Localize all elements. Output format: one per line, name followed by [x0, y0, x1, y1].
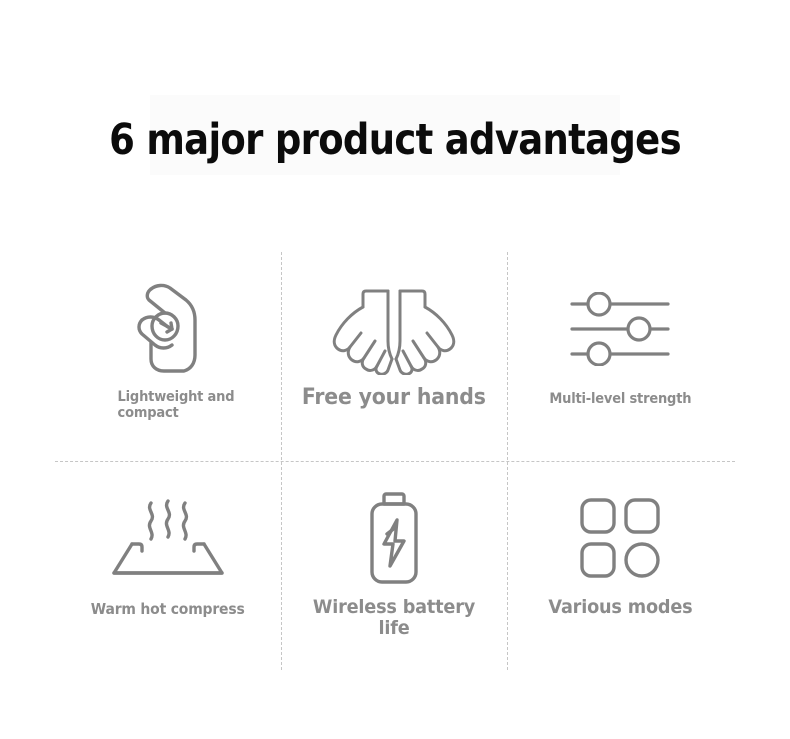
advantage-cell-free-your-hands: Free your hands [281, 252, 507, 461]
advantage-cell-various-modes: Various modes [507, 461, 733, 670]
page-title: 6 major product advantages [55, 117, 734, 164]
advantage-label: Multi-level strength [543, 392, 696, 408]
advantage-cell-warm-hot-compress: Warm hot compress [55, 461, 281, 670]
sliders-icon [568, 270, 672, 388]
advantages-page: 6 major product advantages [0, 0, 790, 739]
advantage-cell-lightweight-and-compact: Lightweight and compact [55, 252, 281, 461]
advantage-cell-multi-level-strength: Multi-level strength [507, 252, 733, 461]
advantage-label: Lightweight and compact [112, 390, 244, 421]
advantage-label: Warm hot compress [86, 601, 251, 618]
advantage-label: Wireless battery life [289, 597, 499, 640]
battery-bolt-icon [362, 479, 426, 597]
modes-grid-icon [579, 479, 661, 597]
advantage-cell-wireless-battery-life: Wireless battery life [281, 461, 507, 670]
advantage-label: Various modes [542, 597, 697, 618]
hot-plate-steam-icon [106, 479, 230, 597]
pinching-hand-icon [120, 270, 216, 388]
two-open-hands-icon [330, 270, 458, 388]
advantages-grid: Lightweight and compact [55, 252, 735, 670]
advantage-label: Free your hands [297, 386, 492, 411]
